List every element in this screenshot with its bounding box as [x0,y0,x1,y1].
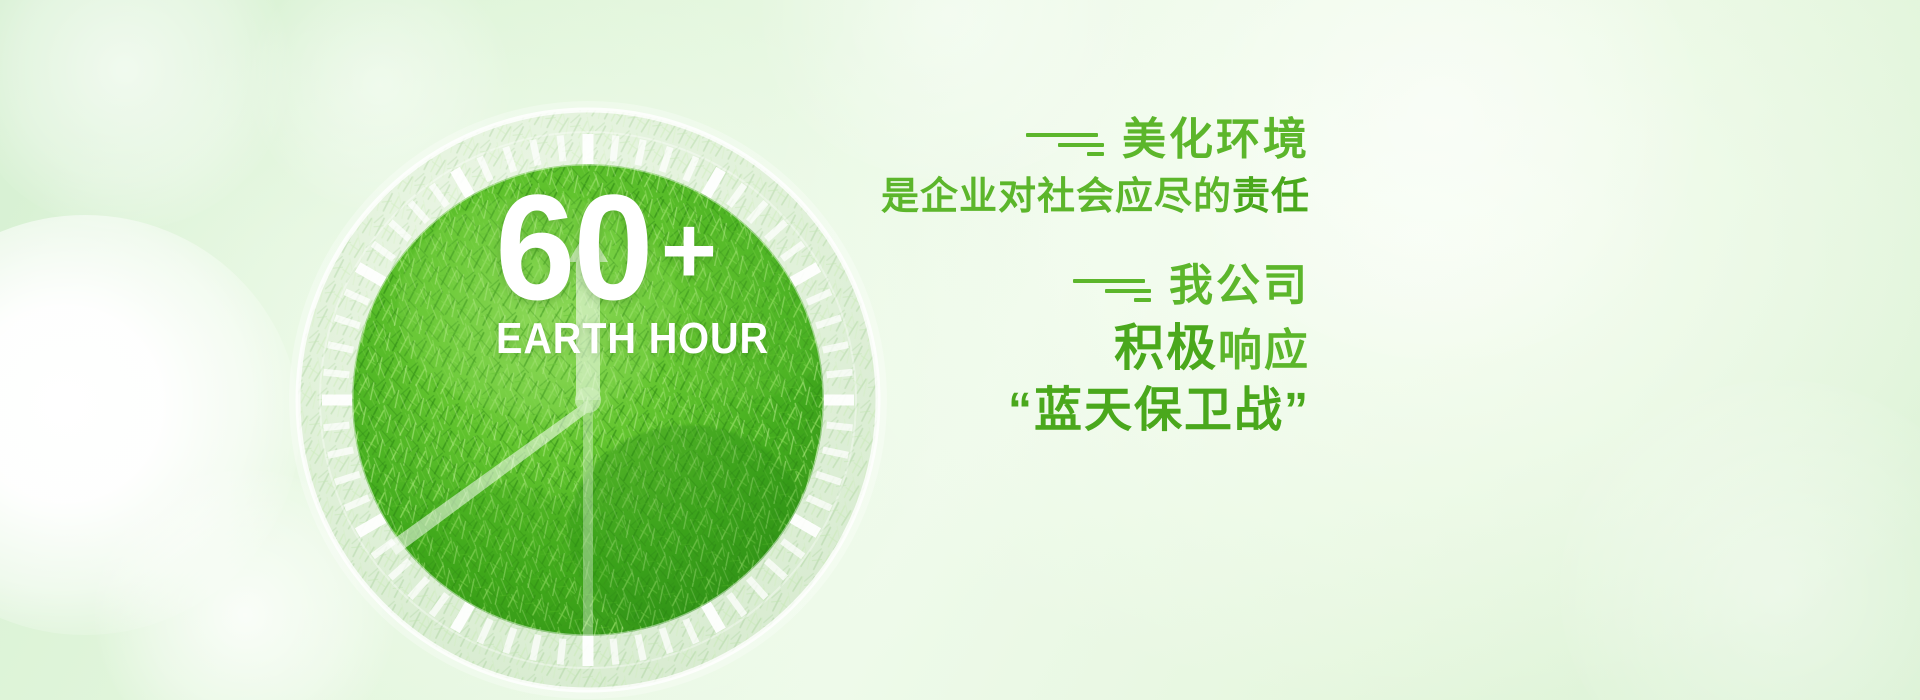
copy-block-two-line-two: 积极响应 [880,320,1310,376]
bokeh-light [1560,380,1920,700]
clock-tick-minor [613,135,616,161]
copy-block-two-emphasis: 积极 [1114,320,1218,376]
copy-block-one-subtitle: 是企业对社会应尽的责任 [880,176,1310,220]
earth-hour-banner: 60 + EARTH HOUR 美化环境 是企业对社会应尽的责任 [0,0,1920,700]
copy-block-one: 美化环境 是企业对社会应尽的责任 [880,118,1310,220]
copy-block-one-head: 美化环境 [880,118,1310,162]
clock-tick-minor [613,639,616,665]
clock-tick-minor [560,135,563,161]
clock-tick-minor [323,372,349,375]
copy-block-two-line-three: “蓝天保卫战” [880,384,1310,438]
clock-tick-minor [323,425,349,428]
marketing-copy: 美化环境 是企业对社会应尽的责任 我公司 积极响应 “蓝天保卫战” [880,118,1310,437]
clock-tick-minor [560,639,563,665]
copy-block-two: 我公司 积极响应 “蓝天保卫战” [880,264,1310,438]
copy-block-one-subtitle-emphasis: 责任 [1232,176,1310,218]
copy-block-two-head: 我公司 [880,264,1310,308]
clock-svg [288,100,888,700]
three-line-deco-icon [1073,271,1151,301]
clock-tick-minor [827,425,853,428]
clock-tick-minor [827,372,853,375]
copy-block-one-subtitle-lead: 是企业对社会应尽的 [881,176,1232,218]
grass-clock-graphic: 60 + EARTH HOUR [288,100,888,700]
copy-block-two-rest: 响应 [1218,326,1310,375]
copy-block-two-title: 我公司 [1169,264,1310,308]
bokeh-light [0,215,300,635]
three-line-deco-icon [1026,125,1104,155]
copy-block-one-title: 美化环境 [1122,118,1310,162]
bokeh-light [0,0,290,230]
